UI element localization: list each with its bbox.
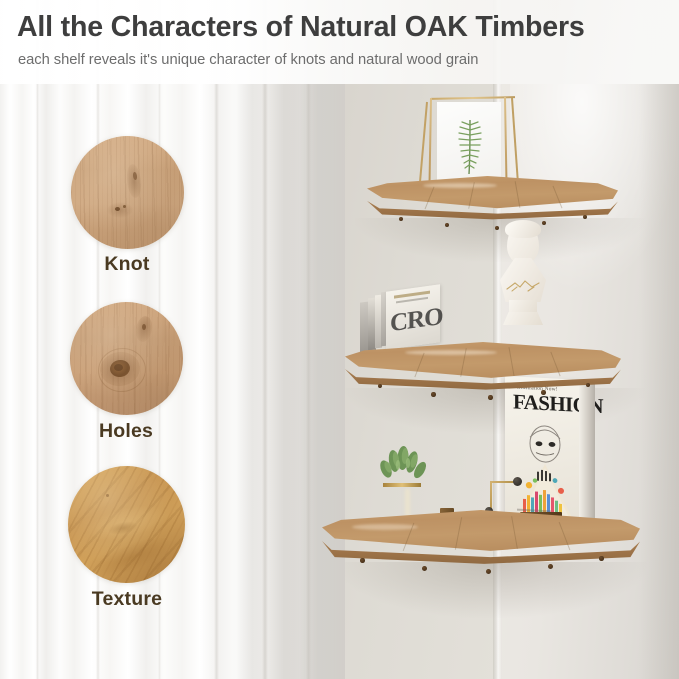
shelf-screw	[548, 564, 553, 569]
holes-swatch-circle	[70, 302, 183, 415]
product-marketing-image: CRO Illustration Now! FASHION	[0, 0, 679, 679]
texture-swatch-shading	[68, 466, 185, 583]
shelf-screw	[583, 215, 587, 219]
header-banner: All the Characters of Natural OAK Timber…	[0, 0, 679, 84]
curtain-fold	[36, 0, 39, 679]
shelf-screw	[542, 221, 546, 225]
page-subtitle: each shelf reveals it's unique character…	[18, 51, 478, 68]
middle-shelf-highlight	[405, 350, 497, 355]
texture-swatch-circle	[68, 466, 185, 583]
bust-pedestal	[503, 312, 543, 325]
magazine-title-text: CRO	[390, 304, 443, 336]
shelf-screw	[486, 569, 491, 574]
magazine-cover: CRO	[386, 284, 440, 350]
holes-label: Holes	[16, 420, 236, 443]
page-title: All the Characters of Natural OAK Timber…	[17, 11, 585, 44]
holes-swatch-shading	[70, 302, 183, 415]
fashion-illustration-face	[519, 417, 571, 466]
frame-bar-top	[431, 96, 515, 100]
knot-label: Knot	[17, 253, 237, 276]
knot-swatch-circle	[71, 136, 184, 249]
shelf-screw	[488, 395, 493, 400]
shelf-screw	[445, 223, 449, 227]
shelf-screw	[431, 392, 436, 397]
shelf-screw	[422, 566, 427, 571]
shelf-screw	[399, 217, 403, 221]
pot-rim	[383, 483, 421, 487]
shelf-screw	[586, 383, 590, 387]
bottom-shelf	[322, 510, 640, 572]
bust-sculpture	[493, 222, 553, 350]
shelf-screw	[599, 556, 604, 561]
knot-swatch-shading	[71, 136, 184, 249]
curtain-fold	[214, 0, 219, 679]
texture-label: Texture	[17, 588, 237, 611]
bust-neck	[509, 300, 537, 314]
shelf-screw	[360, 558, 365, 563]
top-shelf	[367, 176, 618, 228]
shelf-screw	[541, 390, 546, 395]
bust-gold-accents	[503, 278, 543, 294]
middle-shelf	[345, 342, 621, 398]
stand-knob	[513, 477, 522, 486]
shelf-screw	[378, 384, 382, 388]
magazine-subtitle	[396, 297, 428, 303]
bottom-shelf-highlight	[352, 524, 418, 530]
fern-leaf-icon	[455, 118, 485, 176]
curtain-shadow	[232, 0, 345, 679]
framed-botanical-print	[425, 92, 521, 188]
